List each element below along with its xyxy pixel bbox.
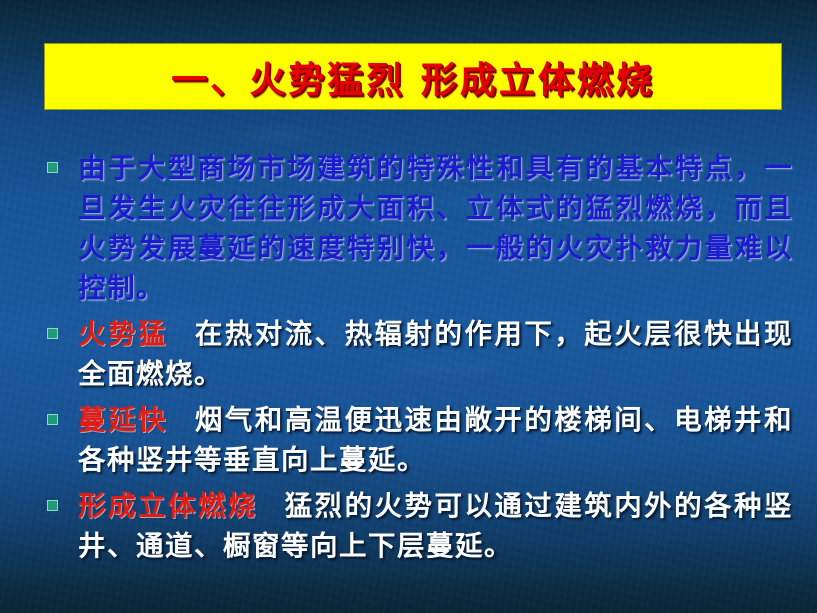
list-item-text: 形成立体燃烧猛烈的火势可以通过建筑内外的各种竖井、通道、橱窗等向上下层蔓延。	[78, 486, 793, 566]
square-bullet-icon	[47, 162, 58, 173]
page-title: 一、火势猛烈 形成立体燃烧	[171, 51, 655, 103]
list-item: 蔓延快烟气和高温便迅速由敞开的楼梯间、电梯井和各种竖井等垂直向上蔓延。	[0, 400, 817, 480]
bullet-list: 由于大型商场市场建筑的特殊性和具有的基本特点，一旦发生火灾往往形成大面积、立体式…	[0, 148, 817, 572]
list-item: 由于大型商场市场建筑的特殊性和具有的基本特点，一旦发生火灾往往形成大面积、立体式…	[0, 148, 817, 308]
list-item-keyword: 形成立体燃烧	[78, 490, 258, 522]
list-item: 形成立体燃烧猛烈的火势可以通过建筑内外的各种竖井、通道、橱窗等向上下层蔓延。	[0, 486, 817, 566]
square-bullet-icon	[47, 500, 58, 511]
presentation-slide: 一、火势猛烈 形成立体燃烧 由于大型商场市场建筑的特殊性和具有的基本特点，一旦发…	[0, 0, 817, 613]
square-bullet-icon	[47, 414, 58, 425]
list-item-text: 蔓延快烟气和高温便迅速由敞开的楼梯间、电梯井和各种竖井等垂直向上蔓延。	[78, 400, 793, 480]
list-item-text: 火势猛在热对流、热辐射的作用下，起火层很快出现全面燃烧。	[78, 314, 793, 394]
title-banner: 一、火势猛烈 形成立体燃烧	[44, 43, 782, 110]
list-item-body: 在热对流、热辐射的作用下，起火层很快出现全面燃烧。	[78, 318, 793, 390]
square-bullet-icon	[47, 328, 58, 339]
list-item-keyword: 蔓延快	[78, 404, 168, 436]
list-item: 火势猛在热对流、热辐射的作用下，起火层很快出现全面燃烧。	[0, 314, 817, 394]
list-item-keyword: 火势猛	[78, 318, 168, 350]
list-item-text: 由于大型商场市场建筑的特殊性和具有的基本特点，一旦发生火灾往往形成大面积、立体式…	[78, 148, 793, 308]
list-item-body: 烟气和高温便迅速由敞开的楼梯间、电梯井和各种竖井等垂直向上蔓延。	[78, 404, 793, 476]
list-item-body: 由于大型商场市场建筑的特殊性和具有的基本特点，一旦发生火灾往往形成大面积、立体式…	[78, 152, 793, 304]
